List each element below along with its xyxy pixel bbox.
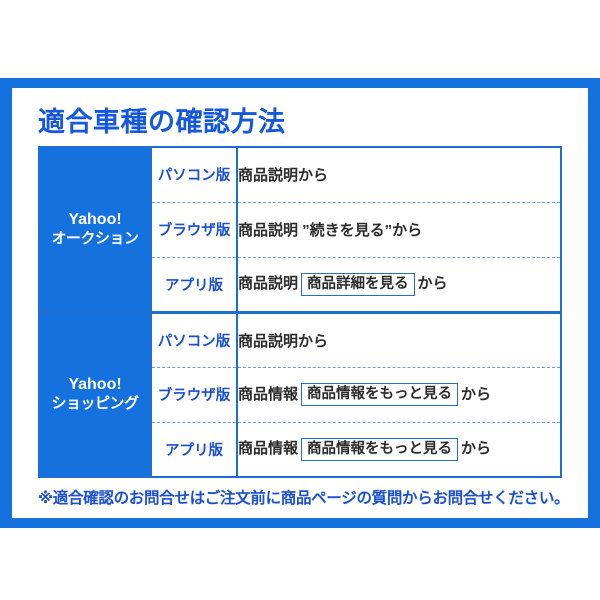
brand-cell-auction: Yahoo! オークション <box>39 147 151 312</box>
page-title: 適合車種の確認方法 <box>38 100 286 139</box>
brand-line1: Yahoo! <box>40 375 150 395</box>
description-cell: 商品情報商品情報をもっと見るから <box>237 367 561 422</box>
howto-table: Yahoo! オークション パソコン版 商品説明から ブラウザ版 商品説明 ”続… <box>38 146 562 478</box>
description-cell: 商品情報商品情報をもっと見るから <box>237 422 561 477</box>
desc-text-before: 商品情報 <box>238 440 298 457</box>
desc-text-after: から <box>418 275 448 292</box>
description-cell: 商品説明から <box>237 312 561 367</box>
desc-text-before: 商品情報 <box>238 386 298 403</box>
desc-text-before: 商品説明から <box>238 167 328 184</box>
table-row: Yahoo! オークション パソコン版 商品説明から <box>39 147 561 202</box>
brand-line2: オークション <box>40 230 150 249</box>
desc-text-before: 商品説明 <box>238 275 298 292</box>
desc-text-after: から <box>461 386 491 403</box>
desc-text-before: 商品説明 ”続きを見る”から <box>238 222 422 239</box>
device-label: アプリ版 <box>151 422 237 477</box>
brand-line1: Yahoo! <box>40 210 150 230</box>
description-cell: 商品説明 ”続きを見る”から <box>237 202 561 257</box>
desc-text-before: 商品説明から <box>238 333 328 350</box>
device-label: パソコン版 <box>151 147 237 202</box>
device-label: ブラウザ版 <box>151 367 237 422</box>
device-label: ブラウザ版 <box>151 202 237 257</box>
device-label: パソコン版 <box>151 312 237 367</box>
table-row: Yahoo! ショッピング パソコン版 商品説明から <box>39 312 561 367</box>
desc-text-after: から <box>461 440 491 457</box>
footer-note: ※適合確認のお問合せはご注文前に商品ページの質問からお問合せください。 <box>38 486 566 508</box>
howto-table-wrapper: Yahoo! オークション パソコン版 商品説明から ブラウザ版 商品説明 ”続… <box>38 146 562 478</box>
panel-inner: 適合車種の確認方法 Yahoo! オークション パソコン版 商品説明から <box>12 88 588 518</box>
device-label: アプリ版 <box>151 257 237 312</box>
description-cell: 商品説明から <box>237 147 561 202</box>
brand-cell-shopping: Yahoo! ショッピング <box>39 312 151 477</box>
ui-button-reference: 商品情報をもっと見る <box>301 438 458 461</box>
ui-button-reference: 商品情報をもっと見る <box>301 383 458 406</box>
brand-line2: ショッピング <box>40 395 150 414</box>
description-cell: 商品説明商品詳細を見るから <box>237 257 561 312</box>
ui-button-reference: 商品詳細を見る <box>301 273 415 296</box>
info-panel: 適合車種の確認方法 Yahoo! オークション パソコン版 商品説明から <box>0 78 600 528</box>
